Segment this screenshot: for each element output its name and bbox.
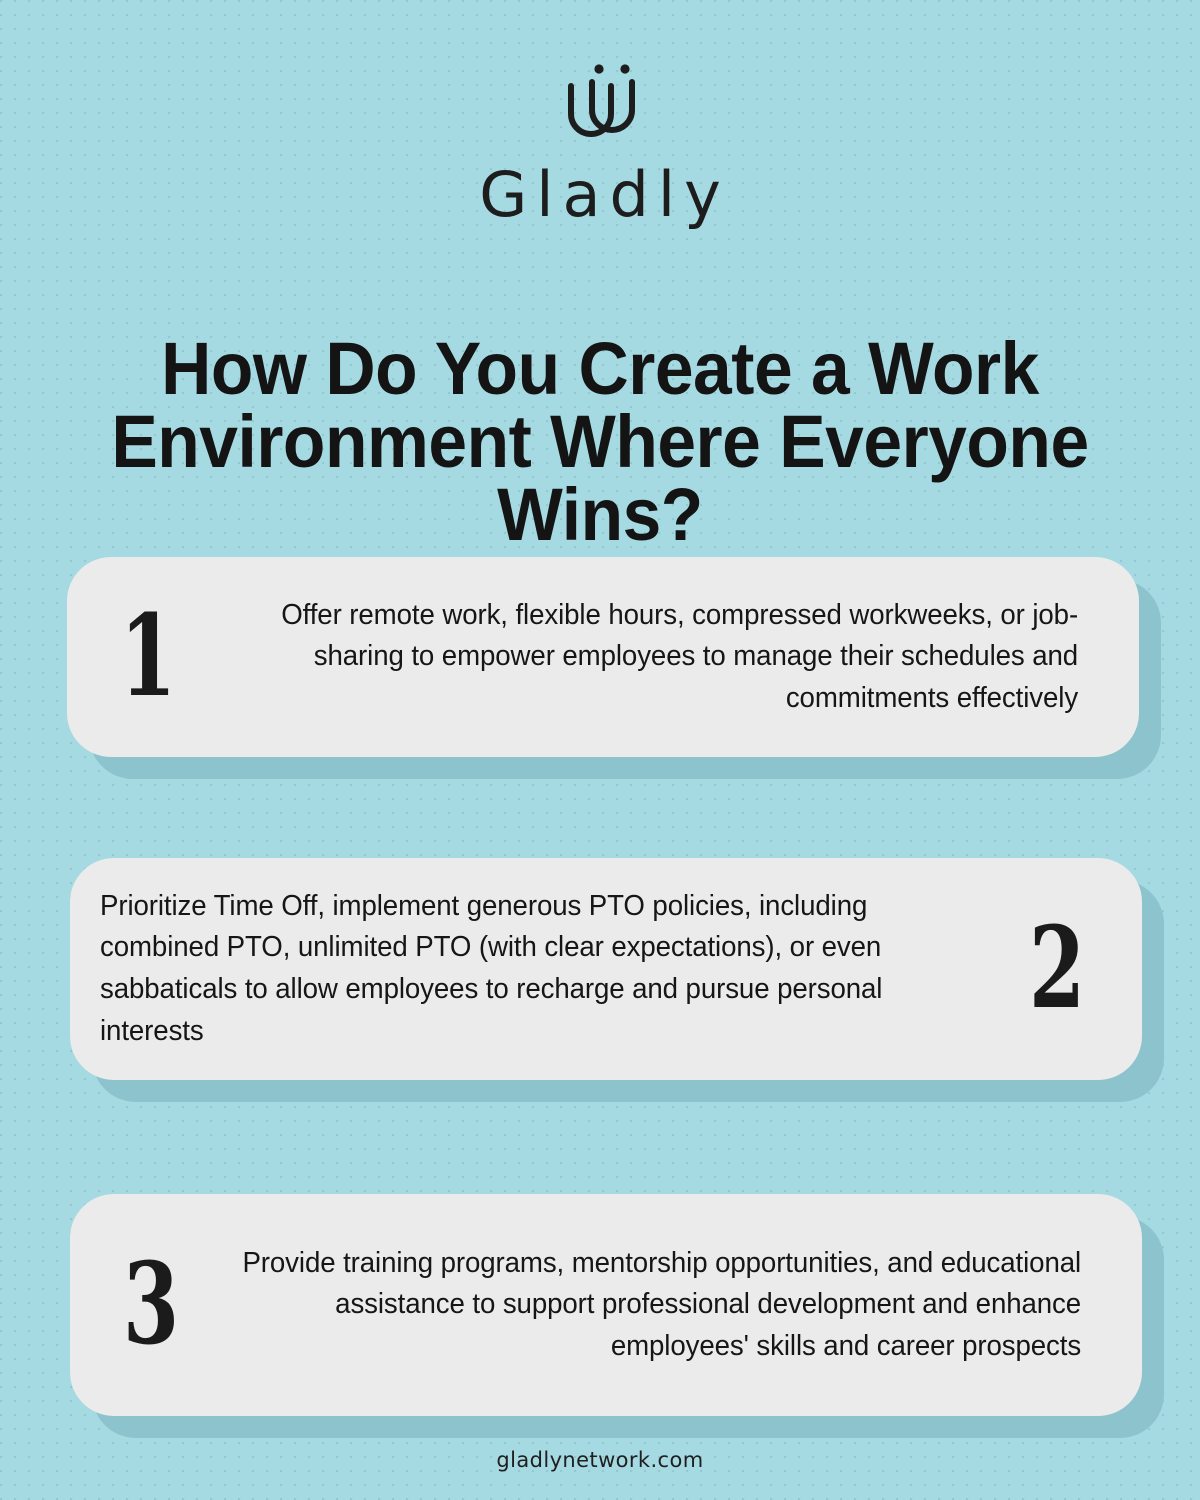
infographic-poster: Gladly How Do You Create a Work Environm… — [0, 0, 1200, 1500]
tip-number-2: 2 — [1015, 913, 1100, 1025]
gladly-smiley-logo-icon — [554, 62, 646, 146]
tip-text-1: Offer remote work, flexible hours, compr… — [207, 595, 1078, 720]
tip-text-2: Prioritize Time Off, implement generous … — [100, 886, 971, 1052]
footer-website[interactable]: gladlynetwork.com — [0, 1448, 1200, 1472]
page-title: How Do You Create a Work Environment Whe… — [88, 332, 1113, 552]
tip-text-3: Provide training programs, mentorship op… — [210, 1243, 1081, 1368]
tip-card-3: 3 Provide training programs, mentorship … — [70, 1194, 1142, 1416]
tip-number-1: 1 — [106, 601, 191, 713]
tip-number-3: 3 — [109, 1249, 194, 1361]
brand-block: Gladly — [0, 62, 1200, 226]
tip-card-2: Prioritize Time Off, implement generous … — [70, 858, 1142, 1080]
brand-wordmark: Gladly — [0, 164, 1200, 226]
tip-card-1: 1 Offer remote work, flexible hours, com… — [67, 557, 1139, 757]
